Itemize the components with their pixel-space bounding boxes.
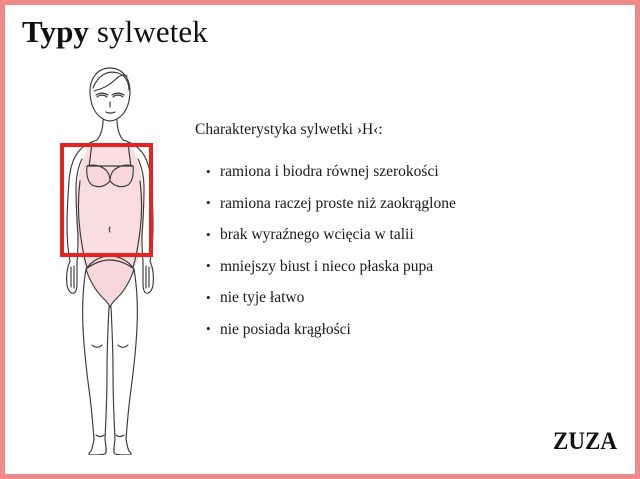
body-fill [76, 144, 144, 269]
zuza-logo-svg: ZUZA [553, 428, 617, 454]
hand-right-fingers [146, 266, 149, 288]
eye-right [113, 95, 123, 97]
zuza-logo-text: ZUZA [553, 428, 617, 454]
knee-left [92, 345, 102, 347]
neck-right [117, 120, 123, 140]
leg-left-inner [105, 307, 109, 439]
panties [86, 256, 134, 307]
hand-right [143, 261, 153, 293]
list-item: ramiona i biodra równej szerokości [190, 162, 620, 181]
foot-right [114, 439, 131, 455]
slide-canvas: Typy sylwetek [0, 0, 640, 479]
page-title-bold: Typy [22, 14, 89, 49]
ankle-left [96, 435, 104, 437]
eye-left [97, 95, 107, 97]
list-item: mniejszy biust i nieco płaska pupa [190, 257, 620, 276]
female-silhouette-svg [30, 55, 190, 455]
characteristics-list: ramiona i biodra równej szerokości ramio… [190, 162, 620, 339]
knee-right [118, 345, 128, 347]
foot-left [89, 439, 106, 455]
neck-left [97, 120, 103, 140]
list-item: nie tyje łatwo [190, 288, 620, 307]
leg-right-inner [111, 307, 115, 439]
ankle-right [116, 435, 124, 437]
hand-left [67, 261, 77, 293]
body-figure-illustration [30, 55, 190, 455]
page-title-regular: sylwetek [97, 14, 208, 49]
mouth [106, 112, 115, 113]
list-item: brak wyraźnego wcięcia w talii [190, 225, 620, 244]
leg-left-outer [83, 269, 94, 439]
hand-left-fingers [71, 266, 74, 288]
list-item: ramiona raczej proste niż zaokrąglone [190, 194, 620, 213]
leg-right-outer [126, 269, 137, 439]
list-item: nie posiada krągłości [190, 320, 620, 339]
characteristics-heading: Charakterystyka sylwetki ›H‹: [190, 120, 620, 140]
characteristics-panel: Charakterystyka sylwetki ›H‹: ramiona i … [190, 120, 620, 351]
zuza-logo: ZUZA [553, 428, 617, 454]
page-title: Typy sylwetek [22, 13, 208, 51]
